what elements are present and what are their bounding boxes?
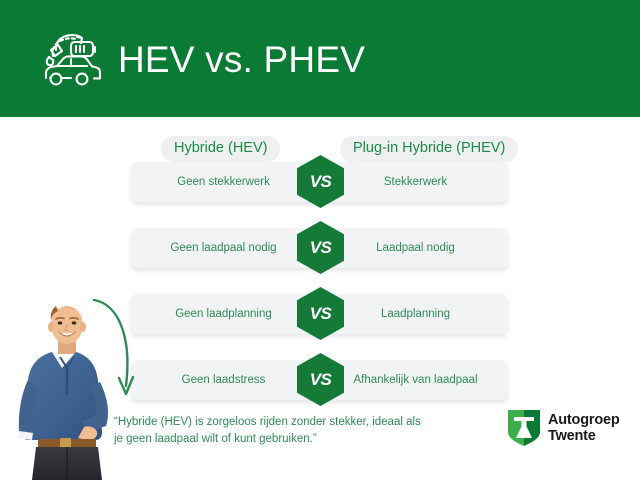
vs-label: VS	[310, 305, 331, 322]
quote-text: “Hybride (HEV) is zorgeloos rijden zonde…	[114, 414, 454, 448]
infographic-page: HEV vs. PHEV Hybride (HEV) Plug-in Hybri…	[0, 0, 640, 480]
row-right-value: Afhankelijk van laadpaal	[323, 360, 508, 400]
shield-a-logo-icon	[506, 407, 542, 448]
row-left-value: Geen laadstress	[131, 360, 316, 400]
row-right-value: Laadpaal nodig	[323, 228, 508, 268]
row-left-value: Geen laadpaal nodig	[131, 228, 316, 268]
hybrid-car-battery-fuel-icon	[38, 28, 104, 90]
vs-label: VS	[310, 371, 331, 388]
quote-line-2: je geen laadpaal wilt of kunt gebruiken.…	[114, 431, 454, 448]
vs-label: VS	[310, 173, 331, 190]
curved-arrow-pointing-to-quote	[92, 288, 138, 406]
row-left-value: Geen laadplanning	[131, 294, 316, 334]
column-label-phev: Plug-in Hybride (PHEV)	[340, 136, 518, 162]
header-banner: HEV vs. PHEV	[0, 0, 640, 117]
brand-logo: Autogroep Twente	[506, 407, 618, 451]
page-title: HEV vs. PHEV	[118, 38, 365, 82]
brand-logo-text: Autogroep Twente	[548, 412, 620, 444]
column-label-hev: Hybride (HEV)	[161, 136, 280, 162]
brand-name-line-1: Autogroep	[548, 412, 620, 428]
row-right-value: Laadplanning	[323, 294, 508, 334]
row-left-value: Geen stekkerwerk	[131, 162, 316, 202]
quote-line-1: “Hybride (HEV) is zorgeloos rijden zonde…	[114, 414, 454, 431]
brand-name-line-2: Twente	[548, 428, 620, 444]
vs-label: VS	[310, 239, 331, 256]
row-right-value: Stekkerwerk	[323, 162, 508, 202]
